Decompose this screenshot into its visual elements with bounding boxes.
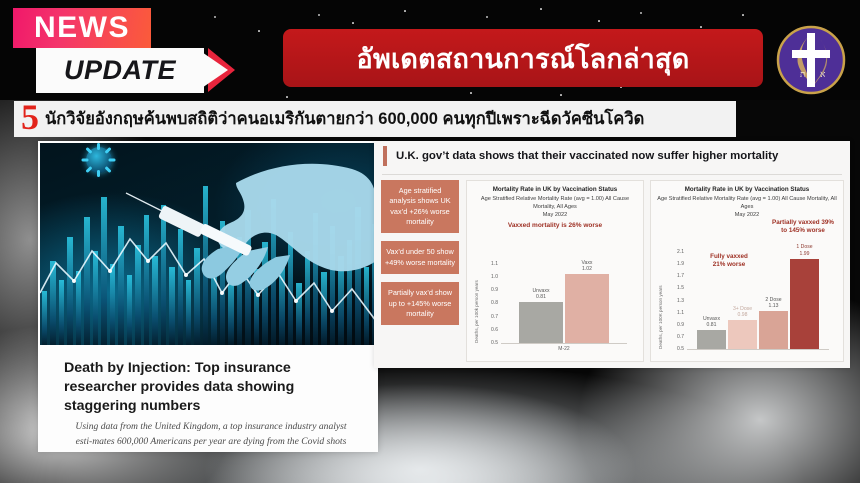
ytick-label: 0.7 bbox=[677, 334, 684, 340]
update-label: UPDATE bbox=[36, 48, 204, 93]
panel-accent-bar bbox=[383, 146, 387, 166]
analysis-panel: U.K. gov’t data shows that their vaccina… bbox=[374, 141, 850, 368]
ytick-label: 0.6 bbox=[491, 327, 498, 333]
update-box: UPDATE bbox=[36, 48, 204, 93]
panel-heading: U.K. gov’t data shows that their vaccina… bbox=[374, 143, 850, 169]
xtick-label: M-22 bbox=[501, 346, 627, 352]
ytick-label: 0.8 bbox=[491, 300, 498, 306]
chart-1: Mortality Rate in UK by Vaccination Stat… bbox=[466, 180, 644, 362]
svg-text:ת: ת bbox=[800, 69, 806, 79]
plot2-xaxis bbox=[687, 349, 829, 350]
syringe-photo bbox=[40, 143, 376, 345]
chart-2-annotation-mid: Fully vaxxed 21% worse bbox=[707, 253, 751, 270]
chart-1-subtitle: Age Stratified Relative Mortality Rate (… bbox=[467, 196, 643, 211]
article-card: Death by Injection: Top insurance resear… bbox=[38, 141, 378, 452]
plot1-bars: Unvaxx0.81Vaxx1.02 bbox=[519, 257, 609, 343]
bar: Unvaxx0.81 bbox=[697, 330, 726, 349]
panel-divider bbox=[382, 174, 842, 175]
bar-label: Unvaxx0.81 bbox=[703, 316, 720, 330]
plot2-yticks: 2.11.91.71.51.31.10.90.70.5 bbox=[651, 239, 684, 357]
story-number: 5 bbox=[21, 99, 39, 135]
plot1-yticks: 1.11.00.90.80.70.60.5 bbox=[467, 245, 498, 357]
article-title: Death by Injection: Top insurance resear… bbox=[64, 359, 356, 416]
bar: 1 Dose1.99 bbox=[790, 259, 819, 349]
news-tag: NEWS bbox=[13, 8, 151, 48]
ytick-label: 0.7 bbox=[491, 314, 498, 320]
callout-list: Age stratified analysis shows UK vax’d +… bbox=[381, 180, 459, 333]
bar: 3+ Dose0.98 bbox=[728, 320, 757, 349]
chart-1-title: Mortality Rate in UK by Vaccination Stat… bbox=[467, 186, 643, 194]
ytick-label: 1.0 bbox=[491, 274, 498, 280]
ytick-label: 1.9 bbox=[677, 261, 684, 267]
svg-text:א: א bbox=[820, 69, 826, 79]
callout-box: Vax’d under 50 show +49% worse mortality bbox=[381, 241, 459, 274]
update-arrow-white bbox=[196, 48, 228, 92]
ytick-label: 2.1 bbox=[677, 249, 684, 255]
ytick-label: 1.1 bbox=[677, 310, 684, 316]
news-label: NEWS bbox=[34, 11, 130, 45]
ytick-label: 0.5 bbox=[677, 346, 684, 352]
ytick-label: 1.5 bbox=[677, 285, 684, 291]
ytick-label: 0.9 bbox=[677, 322, 684, 328]
bar-label: 2 Dose1.13 bbox=[765, 297, 781, 311]
chart-1-plot: Deaths, per 100k person years1.11.00.90.… bbox=[467, 245, 643, 357]
virus-icon bbox=[86, 147, 112, 173]
subheadline-strip: 5 นักวิจัยอังกฤษค้นพบสถิติว่าคนอเมริกันต… bbox=[14, 101, 736, 137]
ytick-label: 0.5 bbox=[491, 340, 498, 346]
bar-label: 3+ Dose0.98 bbox=[733, 306, 752, 320]
chart-1-date: May 2022 bbox=[467, 212, 643, 218]
subheadline-text: นักวิจัยอังกฤษค้นพบสถิติว่าคนอเมริกันตาย… bbox=[45, 106, 644, 132]
bar-label: Unvaxx0.81 bbox=[533, 288, 550, 302]
ytick-label: 1.7 bbox=[677, 273, 684, 279]
screenshot-stage: NEWS UPDATE อัพเดตสถานการณ์โลกล่าสุด ת א… bbox=[0, 0, 860, 483]
callout-box: Partially vax’d show up to +145% worse m… bbox=[381, 282, 459, 325]
bar: Vaxx1.02 bbox=[565, 274, 609, 343]
bar-label: 1 Dose1.99 bbox=[796, 244, 812, 258]
chart-2-subtitle: Age Stratified Relative Mortality Rate (… bbox=[651, 196, 843, 211]
ytick-label: 1.1 bbox=[491, 261, 498, 267]
chart-2: Mortality Rate in UK by Vaccination Stat… bbox=[650, 180, 844, 362]
plot1-xaxis bbox=[501, 343, 627, 344]
panel-heading-text: U.K. gov’t data shows that their vaccina… bbox=[396, 150, 778, 162]
photo-trend-line bbox=[40, 143, 376, 345]
chart-1-annotation: Vaxxed mortality is 26% worse bbox=[467, 222, 643, 230]
chart-2-date: May 2022 bbox=[651, 212, 843, 218]
bar: 2 Dose1.13 bbox=[759, 311, 788, 349]
ytick-label: 1.3 bbox=[677, 298, 684, 304]
chart-2-annotation-top: Partially vaxxed 39% to 145% worse bbox=[769, 219, 837, 236]
article-subtitle: Using data from the United Kingdom, a to… bbox=[70, 420, 352, 450]
lion-cross-emblem-icon: ת א bbox=[776, 25, 846, 95]
ytick-label: 0.9 bbox=[491, 287, 498, 293]
bar: Unvaxx0.81 bbox=[519, 302, 563, 343]
thai-headline-text: อัพเดตสถานการณ์โลกล่าสุด bbox=[357, 37, 690, 80]
callout-box: Age stratified analysis shows UK vax’d +… bbox=[381, 180, 459, 233]
thai-headline-pill: อัพเดตสถานการณ์โลกล่าสุด bbox=[283, 29, 763, 87]
bar-label: Vaxx1.02 bbox=[582, 260, 593, 274]
update-banner: UPDATE bbox=[36, 48, 228, 93]
chart-2-title: Mortality Rate in UK by Vaccination Stat… bbox=[651, 186, 843, 194]
